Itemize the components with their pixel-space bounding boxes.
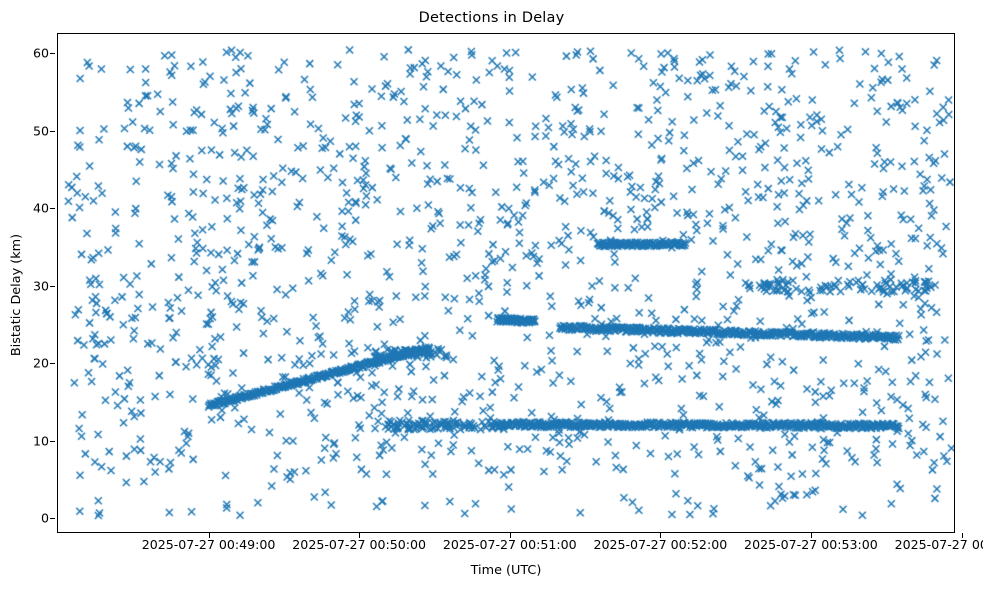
y-tick-mark	[50, 286, 55, 287]
figure: Detections in Delay Bistatic Delay (km) …	[0, 0, 983, 590]
x-tick-mark	[209, 533, 210, 538]
y-tick-label: 30	[5, 278, 49, 293]
plot-area[interactable]	[57, 33, 955, 533]
y-tick-mark	[50, 441, 55, 442]
x-tick-mark	[811, 533, 812, 538]
y-tick-label: 20	[5, 356, 49, 371]
y-axis-tick-labels: 0102030405060	[0, 0, 49, 590]
x-tick-label: 2025-07-27 00:49:00	[142, 537, 276, 552]
x-tick-mark	[359, 533, 360, 538]
scatter-points	[58, 34, 954, 532]
x-tick-label: 2025-07-27 00:50:00	[292, 537, 426, 552]
x-axis-tick-labels: 2025-07-27 00:49:002025-07-27 00:50:0020…	[0, 537, 983, 557]
y-tick-mark	[50, 208, 55, 209]
y-tick-label: 50	[5, 123, 49, 138]
y-tick-label: 40	[5, 201, 49, 216]
chart-title: Detections in Delay	[0, 10, 983, 26]
x-tick-mark	[962, 533, 963, 538]
y-tick-mark	[50, 518, 55, 519]
x-tick-mark	[660, 533, 661, 538]
x-tick-label: 2025-07-27 00:52:00	[593, 537, 727, 552]
x-tick-label: 2025-07-27 00:54:00	[895, 537, 983, 552]
y-tick-mark	[50, 131, 55, 132]
y-tick-mark	[50, 363, 55, 364]
y-tick-mark	[50, 53, 55, 54]
y-tick-label: 10	[5, 433, 49, 448]
x-axis-label: Time (UTC)	[57, 563, 955, 578]
x-tick-label: 2025-07-27 00:53:00	[744, 537, 878, 552]
x-tick-mark	[510, 533, 511, 538]
x-tick-label: 2025-07-27 00:51:00	[443, 537, 577, 552]
y-tick-label: 60	[5, 46, 49, 61]
y-tick-label: 0	[5, 511, 49, 526]
